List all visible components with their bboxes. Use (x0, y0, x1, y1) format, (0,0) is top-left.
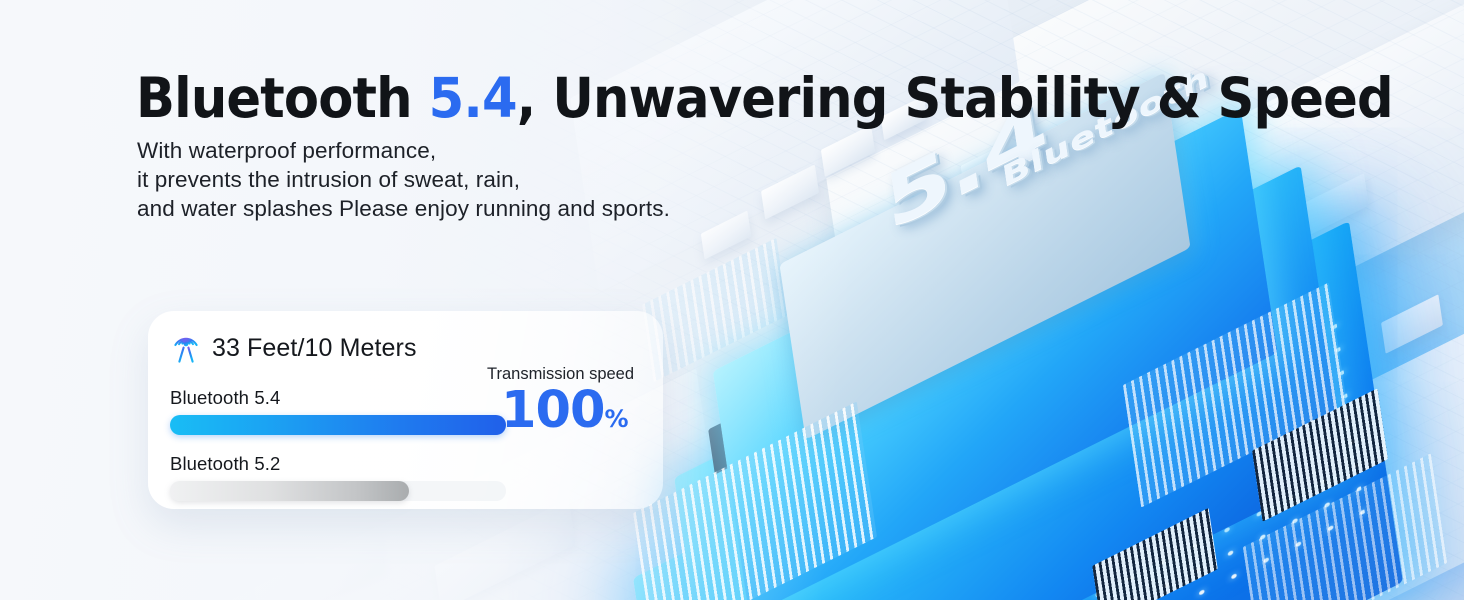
meter-item: Bluetooth 5.4 (170, 387, 506, 435)
meter-label: Bluetooth 5.4 (170, 387, 506, 409)
speed-value-group: 100% (501, 385, 647, 436)
meter-fill (170, 415, 506, 435)
meter-list: Bluetooth 5.4 Bluetooth 5.2 (170, 387, 506, 501)
subtitle-paragraph: With waterproof performance, it prevents… (137, 136, 670, 223)
headline-version-accent: 5.4 (429, 66, 517, 130)
headline-suffix: , Unwavering Stability & Speed (517, 66, 1393, 130)
specs-card: 33 Feet/10 Meters Transmission speed 100… (148, 311, 663, 509)
signal-tower-icon (170, 331, 202, 365)
headline-prefix: Bluetooth (136, 66, 429, 130)
page-title: Bluetooth 5.4, Unwavering Stability & Sp… (136, 66, 1393, 130)
meter-item: Bluetooth 5.2 (170, 453, 506, 501)
subtitle-line-2: it prevents the intrusion of sweat, rain… (137, 165, 670, 194)
meter-fill (170, 481, 409, 501)
bluetooth-product-banner: 5.4 Bluetooth Bluetooth 5.4, Unwavering … (0, 0, 1464, 600)
speed-percent-sign: % (604, 405, 628, 433)
meter-label: Bluetooth 5.2 (170, 453, 506, 475)
speed-number: 100 (501, 381, 604, 440)
range-row: 33 Feet/10 Meters (170, 331, 417, 365)
subtitle-line-1: With waterproof performance, (137, 136, 670, 165)
meter-track (170, 415, 506, 435)
meter-spacer (170, 435, 506, 453)
transmission-speed-block: Transmission speed 100% (487, 365, 647, 436)
meter-track (170, 481, 506, 501)
range-label: 33 Feet/10 Meters (212, 334, 417, 363)
subtitle-line-3: and water splashes Please enjoy running … (137, 194, 670, 223)
